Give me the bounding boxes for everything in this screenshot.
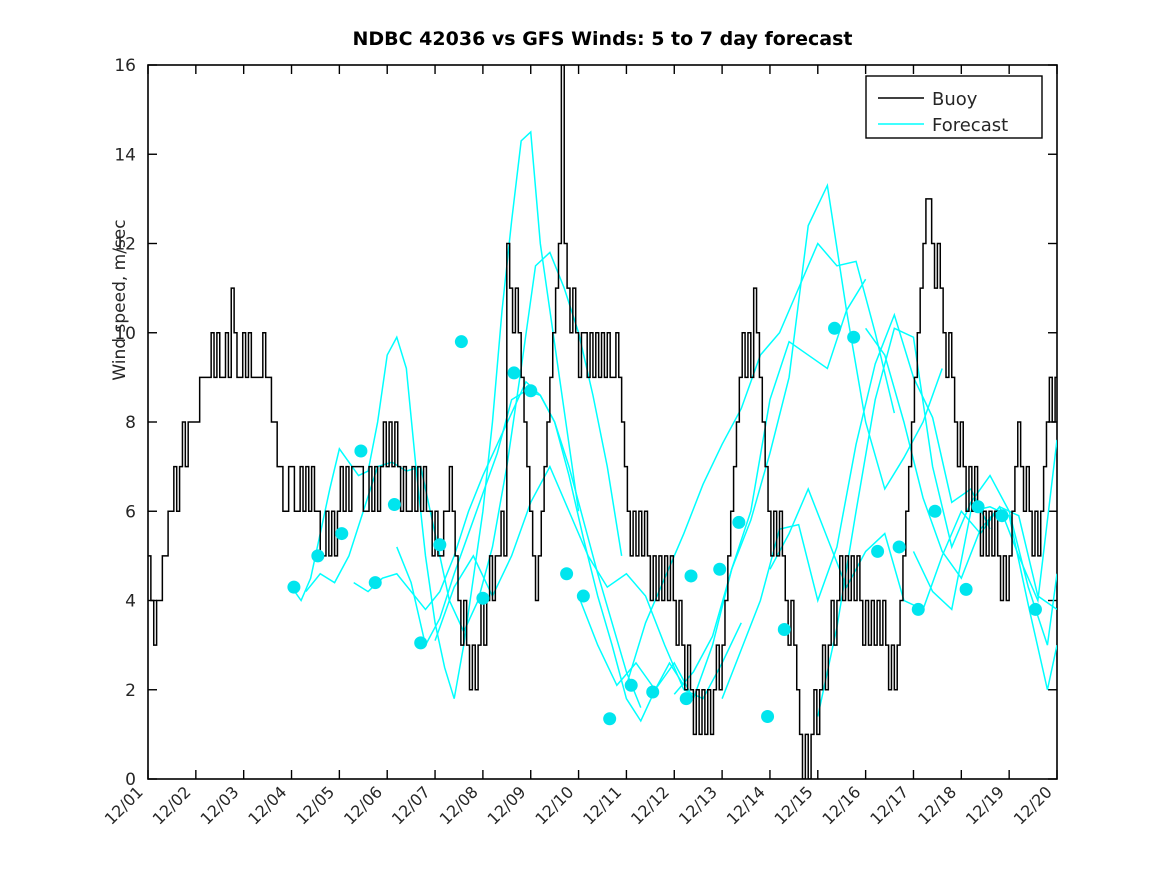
x-tick-label: 12/08 [436,782,482,828]
forecast-marker [414,636,427,649]
forecast-marker [433,538,446,551]
forecast-marker [524,384,537,397]
x-tick-label: 12/13 [675,782,721,828]
forecast-marker [369,576,382,589]
forecast-marker [685,569,698,582]
x-tick-label: 12/11 [579,782,625,828]
forecast-marker [847,331,860,344]
x-tick-label: 12/04 [244,782,290,828]
x-tick-label: 12/18 [914,782,960,828]
x-tick-label: 12/01 [101,782,147,828]
forecast-marker [577,590,590,603]
forecast-marker [507,366,520,379]
legend[interactable]: Buoy Forecast [866,76,1042,138]
forecast-marker [828,322,841,335]
x-tick-label: 12/16 [818,782,864,828]
y-tick-label: 16 [114,56,136,76]
forecast-marker [680,692,693,705]
forecast-marker [287,581,300,594]
legend-label-forecast: Forecast [932,115,1008,136]
forecast-marker [929,505,942,518]
forecast-marker [646,685,659,698]
axes-frame [148,65,1057,779]
forecast-marker [603,712,616,725]
x-tick-label: 12/07 [388,782,434,828]
y-tick-label: 4 [125,592,136,612]
forecast-marker [871,545,884,558]
x-tick-label: 12/14 [723,782,769,828]
x-tick-label: 12/20 [1010,782,1056,828]
forecast-marker [335,527,348,540]
forecast-marker [995,509,1008,522]
forecast-marker [1029,603,1042,616]
y-axis-label: Wind speed, m/sec [110,160,130,440]
forecast-marker [732,516,745,529]
legend-label-buoy: Buoy [932,89,978,110]
x-tick-label: 12/17 [866,782,912,828]
x-tick-label: 12/15 [771,782,817,828]
forecast-marker [625,679,638,692]
x-tick-label: 12/03 [196,782,242,828]
forecast-marker [893,540,906,553]
page-title: NDBC 42036 vs GFS Winds: 5 to 7 day fore… [148,28,1057,50]
forecast-marker [455,335,468,348]
forecast-marker [778,623,791,636]
forecast-marker [713,563,726,576]
plot-canvas: 0246810121416 12/0112/0212/0312/0412/051… [0,0,1167,875]
x-tick-label: 12/06 [340,782,386,828]
forecast-marker [912,603,925,616]
forecast-marker [761,710,774,723]
x-tick-label: 12/02 [149,782,195,828]
forecast-marker [560,567,573,580]
x-tick-label: 12/09 [484,782,530,828]
forecast-marker [354,445,367,458]
x-tick-label: 12/10 [531,782,577,828]
forecast-marker [972,500,985,513]
y-tick-label: 2 [125,681,136,701]
x-tick-label: 12/12 [627,782,673,828]
forecast-marker [960,583,973,596]
forecast-marker [388,498,401,511]
forecast-marker [311,549,324,562]
x-tick-label: 12/05 [292,782,338,828]
chart-figure: NDBC 42036 vs GFS Winds: 5 to 7 day fore… [0,0,1167,875]
x-tick-label: 12/19 [962,782,1008,828]
forecast-marker [476,592,489,605]
y-tick-label: 6 [125,502,136,522]
